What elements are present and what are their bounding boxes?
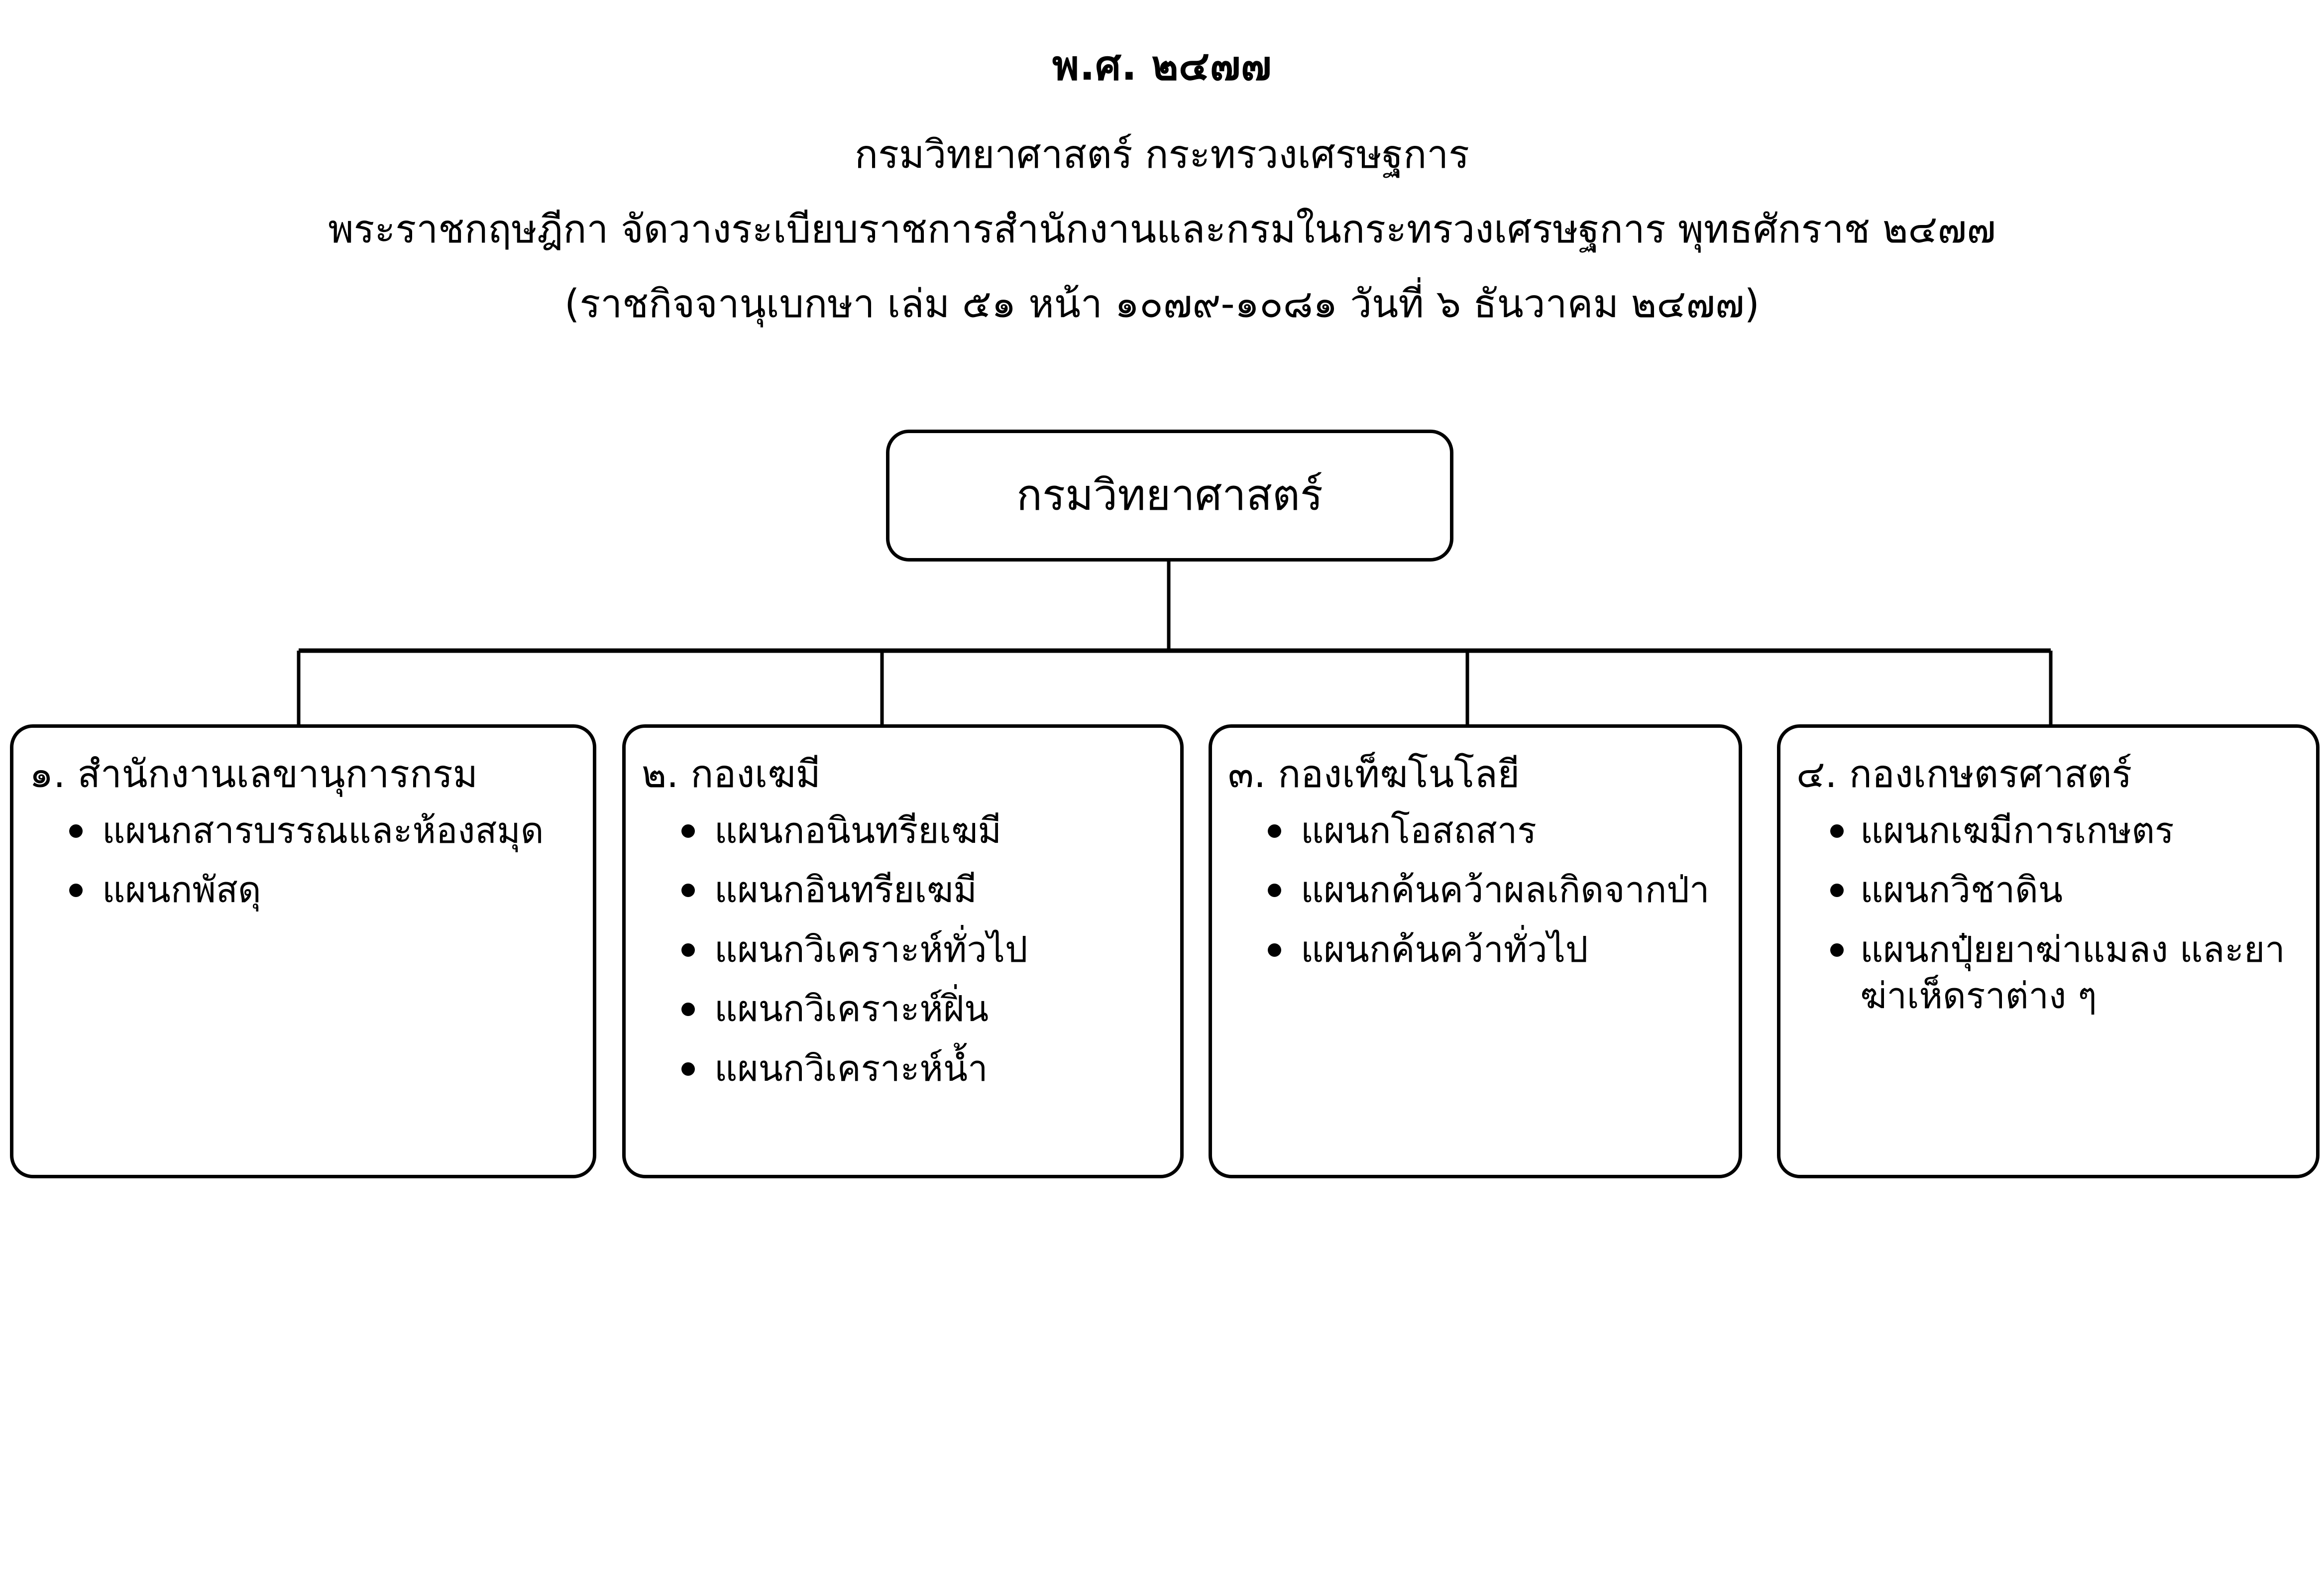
list-item[interactable]: แผนกอินทรียเฆมี xyxy=(681,867,1167,913)
org-child-title-2: ๒. กองเฆมี xyxy=(639,752,1167,796)
header-subtitle-agency: กรมวิทยาศาสตร์ กระทรวงเศรษฐการ xyxy=(0,87,2324,174)
header-year: พ.ศ. ๒๔๗๗ xyxy=(0,0,2324,87)
bullet-icon xyxy=(1830,943,1844,957)
org-root-label: กรมวิทยาศาสตร์ xyxy=(1016,473,1323,518)
list-item[interactable]: แผนกสารบรรณและห้องสมุด xyxy=(69,807,580,854)
org-child-list-1: แผนกสารบรรณและห้องสมุด แผนกพัสดุ xyxy=(26,807,580,913)
list-item[interactable]: แผนกอนินทรียเฆมี xyxy=(681,807,1167,854)
bullet-icon xyxy=(69,884,83,897)
org-child-box-4[interactable]: ๔. กองเกษตรศาสตร์ แผนกเฆมีการเกษตร แผนกว… xyxy=(1777,724,2320,1178)
chart-header: พ.ศ. ๒๔๗๗ กรมวิทยาศาสตร์ กระทรวงเศรษฐการ… xyxy=(0,0,2324,324)
bullet-icon xyxy=(681,1003,695,1016)
bullet-icon xyxy=(1268,943,1281,957)
org-child-box-3[interactable]: ๓. กองเท็ฆโนโลยี แผนกโอสถสาร แผนกค้นคว้า… xyxy=(1209,724,1742,1178)
list-item[interactable]: แผนกวิเคราะห์น้ำ xyxy=(681,1045,1167,1092)
org-child-list-4: แผนกเฆมีการเกษตร แผนกวิชาดิน แผนกปุ๋ยยาฆ… xyxy=(1793,807,2303,1020)
org-child-box-1[interactable]: ๑. สำนักงานเลขานุการกรม แผนกสารบรรณและห้… xyxy=(10,724,596,1178)
org-root-node[interactable]: กรมวิทยาศาสตร์ xyxy=(886,430,1453,562)
list-item[interactable]: แผนกโอสถสาร xyxy=(1268,807,1726,854)
org-child-title-4: ๔. กองเกษตรศาสตร์ xyxy=(1793,752,2303,796)
list-item[interactable]: แผนกวิเคราะห์ฝิ่น xyxy=(681,986,1167,1032)
org-child-title-3: ๓. กองเท็ฆโนโลยี xyxy=(1225,752,1726,796)
bullet-icon xyxy=(1830,884,1844,897)
bullet-icon xyxy=(681,884,695,897)
list-item[interactable]: แผนกค้นคว้าผลเกิดจากป่า xyxy=(1268,867,1726,913)
org-child-box-2[interactable]: ๒. กองเฆมี แผนกอนินทรียเฆมี แผนกอินทรียเ… xyxy=(622,724,1184,1178)
header-decree-title: พระราชกฤษฎีกา จัดวางระเบียบราชการสำนักงา… xyxy=(0,174,2324,249)
list-item[interactable]: แผนกปุ๋ยยาฆ่าแมลง และยาฆ่าเห็ดราต่าง ๆ xyxy=(1830,926,2303,1020)
list-item[interactable]: แผนกค้นคว้าทั่วไป xyxy=(1268,926,1726,973)
header-gazette-citation: (ราชกิจจานุเบกษา เล่ม ๕๑ หน้า ๑๐๗๙-๑๐๘๑ … xyxy=(0,249,2324,324)
bullet-icon xyxy=(69,824,83,838)
bullet-icon xyxy=(681,824,695,838)
list-item[interactable]: แผนกวิชาดิน xyxy=(1830,867,2303,913)
bullet-icon xyxy=(1830,824,1844,838)
bullet-icon xyxy=(681,943,695,957)
org-child-list-3: แผนกโอสถสาร แผนกค้นคว้าผลเกิดจากป่า แผนก… xyxy=(1225,807,1726,973)
org-child-title-1: ๑. สำนักงานเลขานุการกรม xyxy=(26,752,580,796)
bullet-icon xyxy=(1268,884,1281,897)
list-item[interactable]: แผนกพัสดุ xyxy=(69,867,580,913)
org-child-list-2: แผนกอนินทรียเฆมี แผนกอินทรียเฆมี แผนกวิเ… xyxy=(639,807,1167,1092)
list-item[interactable]: แผนกวิเคราะห์ทั่วไป xyxy=(681,926,1167,973)
bullet-icon xyxy=(1268,824,1281,838)
list-item[interactable]: แผนกเฆมีการเกษตร xyxy=(1830,807,2303,854)
bullet-icon xyxy=(681,1062,695,1076)
